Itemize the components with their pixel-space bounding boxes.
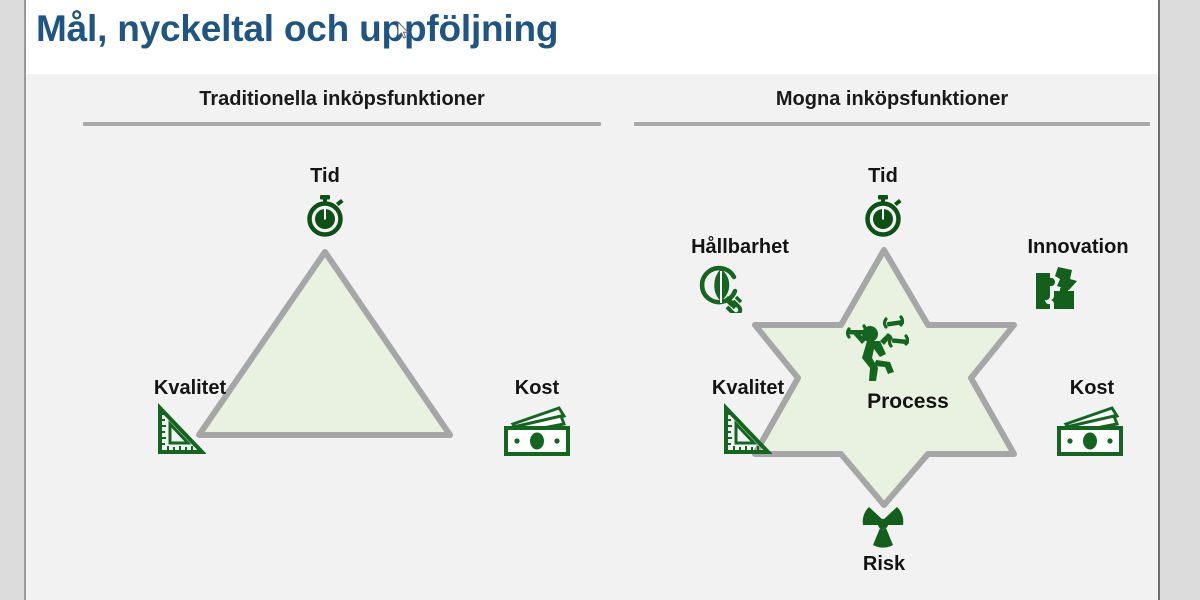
banknotes-icon xyxy=(1054,404,1128,458)
node-traditional-tid[interactable]: Tid xyxy=(301,164,349,238)
slide-root: Mål, nyckeltal och uppföljning Tradition… xyxy=(0,0,1200,600)
puzzle-pieces-icon xyxy=(1028,261,1084,313)
node-label-innovation: Innovation xyxy=(1004,235,1152,259)
node-label-risk: Risk xyxy=(832,552,936,576)
stopwatch-icon xyxy=(859,190,907,238)
stopwatch-icon xyxy=(301,190,349,238)
page-title: Mål, nyckeltal och uppföljning xyxy=(36,8,558,50)
title-band: Mål, nyckeltal och uppföljning xyxy=(26,0,1158,74)
column-heading-traditional: Traditionella inköpsfunktioner xyxy=(70,86,614,112)
node-label-kvalitet-mature: Kvalitet xyxy=(694,376,802,400)
node-traditional-kvalitet[interactable]: Kvalitet xyxy=(136,376,244,458)
column-heading-mature: Mogna inköpsfunktioner xyxy=(622,86,1162,112)
node-traditional-kost[interactable]: Kost xyxy=(481,376,593,458)
column-divider-mature xyxy=(634,122,1150,126)
node-mature-kost[interactable]: Kost xyxy=(1036,376,1148,458)
node-mature-tid[interactable]: Tid xyxy=(859,164,907,238)
mouse-pointer-icon xyxy=(398,22,410,40)
node-mature-kvalitet[interactable]: Kvalitet xyxy=(694,376,802,458)
column-traditional: Traditionella inköpsfunktioner xyxy=(70,86,614,126)
node-label-tid: Tid xyxy=(301,164,349,188)
banknotes-icon xyxy=(501,404,575,458)
node-mature-hallbarhet[interactable]: Hållbarhet xyxy=(666,235,814,313)
node-label-tid-mature: Tid xyxy=(859,164,907,188)
juggler-icon xyxy=(836,310,932,394)
set-square-icon xyxy=(716,402,772,458)
node-mature-innovation[interactable]: Innovation xyxy=(1004,235,1152,313)
node-label-kost-mature: Kost xyxy=(1036,376,1148,400)
node-label-hallbarhet: Hållbarhet xyxy=(666,235,814,259)
node-label-kvalitet: Kvalitet xyxy=(136,376,244,400)
radiation-icon xyxy=(854,498,912,550)
node-label-kost: Kost xyxy=(481,376,593,400)
column-divider-traditional xyxy=(83,122,601,126)
node-mature-risk[interactable]: Risk xyxy=(832,498,936,576)
eco-leaf-plug-icon xyxy=(692,261,748,313)
slide-canvas: Mål, nyckeltal och uppföljning Tradition… xyxy=(24,0,1160,600)
node-label-process: Process xyxy=(832,390,984,414)
set-square-icon xyxy=(150,402,206,458)
column-mature: Mogna inköpsfunktioner xyxy=(622,86,1162,126)
